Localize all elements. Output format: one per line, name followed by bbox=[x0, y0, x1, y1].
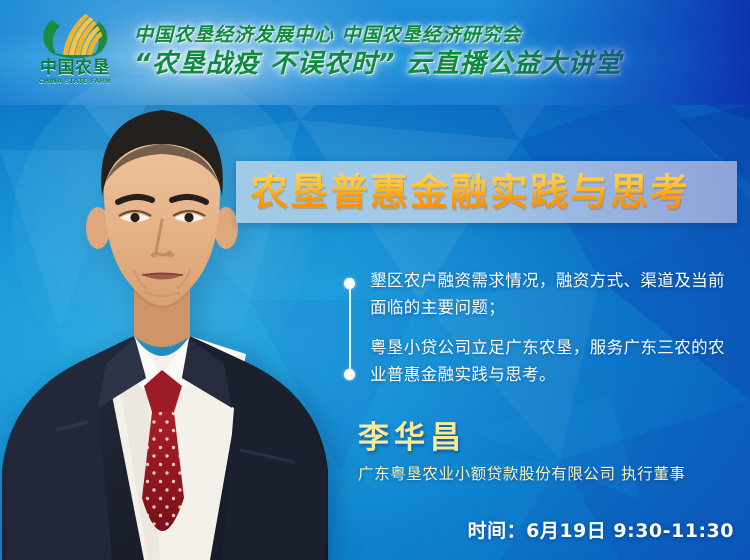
speaker-role: 广东粤垦农业小额贷款股份有限公司 执行董事 bbox=[358, 464, 750, 484]
header-organizations: 中国农垦经济发展中心 中国农垦经济研究会 bbox=[134, 24, 622, 47]
webinar-poster: 中国农垦 CHINA STATE FARM 中国农垦经济发展中心 中国农垦经济研… bbox=[0, 0, 750, 560]
china-state-farm-logo-icon bbox=[37, 11, 113, 63]
bullet-rail bbox=[344, 278, 355, 378]
main-title-band: 农垦普惠金融实践与思考 bbox=[236, 161, 737, 223]
main-title: 农垦普惠金融实践与思考 bbox=[250, 173, 690, 211]
speaker-block: 李华昌 广东粤垦农业小额贷款股份有限公司 执行董事 bbox=[358, 422, 750, 484]
bullet-dot-icon bbox=[344, 369, 355, 380]
header-text-block: 中国农垦经济发展中心 中国农垦经济研究会 “农垦战疫 不误农时” 云直播公益大讲… bbox=[134, 24, 622, 81]
speaker-name: 李华昌 bbox=[358, 422, 750, 455]
header-series-title: “农垦战疫 不误农时” 云直播公益大讲堂 bbox=[134, 49, 622, 81]
bullet-rail-line bbox=[349, 283, 351, 375]
topic-item: 粤垦小贷公司立足广东农垦，服务广东三农的农业普惠金融实践与思考。 bbox=[370, 335, 740, 388]
topic-item: 墾区农户融资需求情况，融资方式、渠道及当前面临的主要问题； bbox=[370, 268, 740, 321]
speaker-portrait bbox=[0, 78, 354, 560]
bullet-dot-icon bbox=[344, 278, 355, 289]
topics-list: 墾区农户融资需求情况，融资方式、渠道及当前面临的主要问题； 粤垦小贷公司立足广东… bbox=[340, 268, 740, 389]
event-time: 时间：6月19日 9:30-11:30 bbox=[468, 516, 734, 543]
